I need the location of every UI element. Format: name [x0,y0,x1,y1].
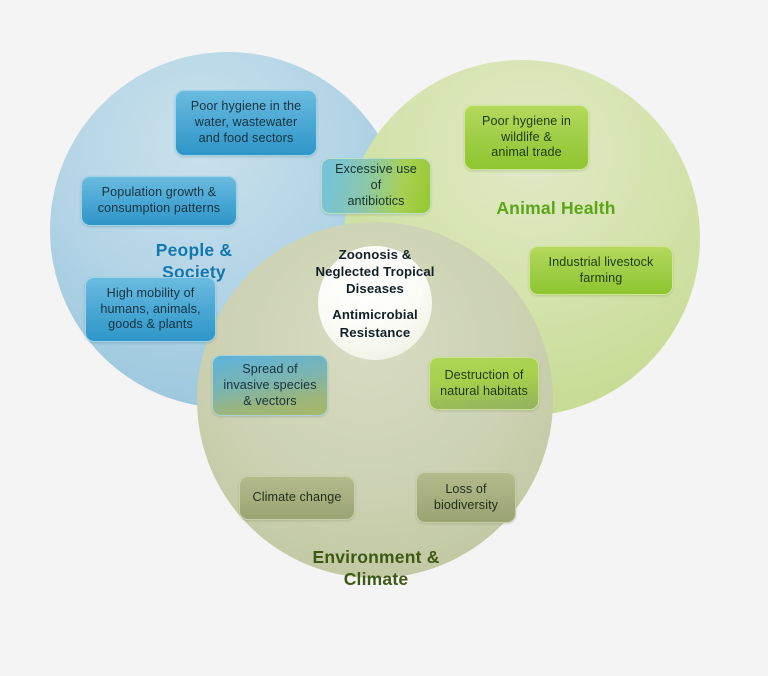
circle-label-environment: Environment & Climate [300,546,452,591]
venn-diagram-canvas: People & Society Animal Health Environme… [0,0,768,676]
node-climate-change[interactable]: Climate change [239,476,355,520]
circle-label-animal: Animal Health [486,197,626,219]
node-industrial-livestock[interactable]: Industrial livestock farming [529,246,673,295]
center-label-amr: Antimicrobial Resistance [303,306,447,340]
node-poor-hygiene-water[interactable]: Poor hygiene in the water, wastewater an… [175,90,317,156]
node-excessive-antibiotics[interactable]: Excessive use of antibiotics [321,158,431,214]
node-spread-invasive-species[interactable]: Spread of invasive species & vectors [212,355,328,416]
node-poor-hygiene-wildlife[interactable]: Poor hygiene in wildlife & animal trade [464,105,589,170]
center-label-group: Zoonosis & Neglected Tropical Diseases A… [303,246,447,341]
node-loss-biodiversity[interactable]: Loss of biodiversity [416,472,516,523]
node-destruction-habitats[interactable]: Destruction of natural habitats [429,357,539,410]
node-high-mobility[interactable]: High mobility of humans, animals, goods … [85,277,216,342]
center-label-diseases: Zoonosis & Neglected Tropical Diseases [303,246,447,297]
node-population-growth[interactable]: Population growth & consumption patterns [81,176,237,226]
